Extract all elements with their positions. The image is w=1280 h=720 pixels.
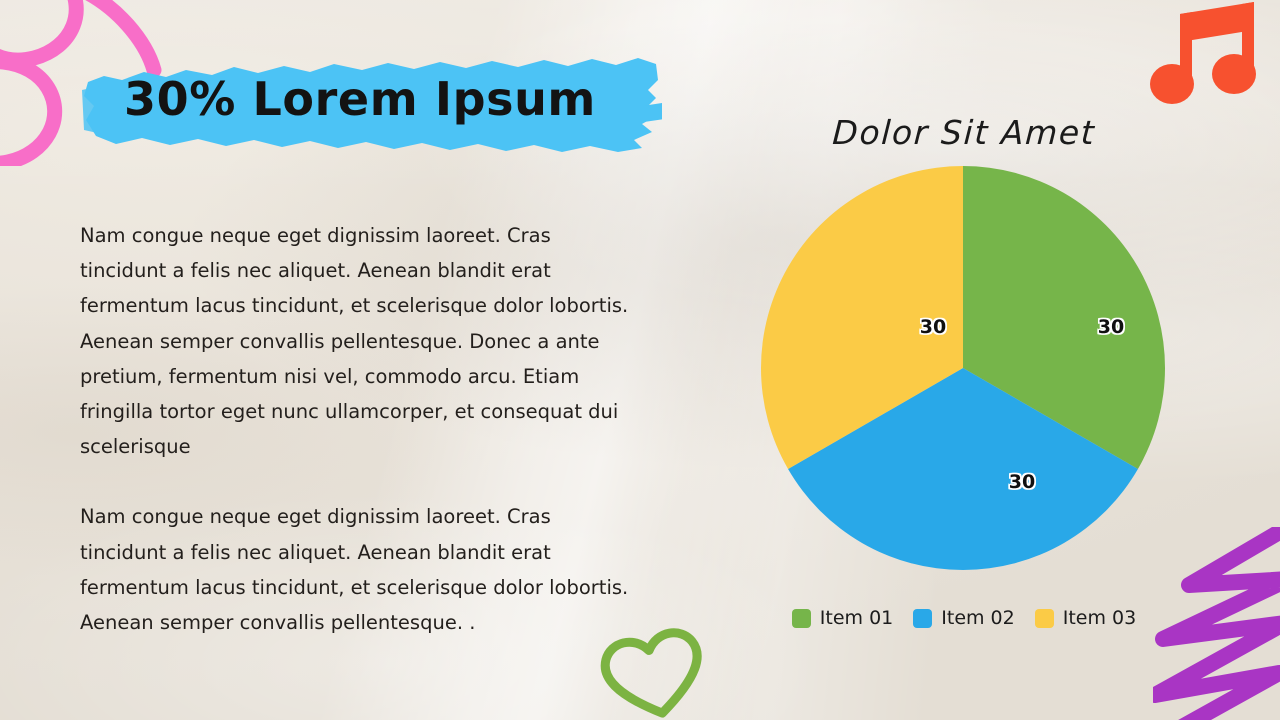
legend-label: Item 02 bbox=[941, 607, 1014, 629]
pie-label-item-02: 30 bbox=[1009, 471, 1035, 493]
legend-item-item-01[interactable]: Item 01 bbox=[792, 607, 893, 629]
title-block: 30% Lorem Ipsum bbox=[82, 46, 662, 168]
body-paragraph-2: Nam congue neque eget dignissim laoreet.… bbox=[80, 499, 636, 640]
legend-swatch-icon bbox=[913, 609, 932, 628]
slide-canvas: 30% Lorem Ipsum Nam congue neque eget di… bbox=[0, 0, 1280, 720]
legend-label: Item 01 bbox=[820, 607, 893, 629]
legend-label: Item 03 bbox=[1063, 607, 1136, 629]
pie-label-item-01: 30 bbox=[1098, 316, 1124, 338]
legend-swatch-icon bbox=[792, 609, 811, 628]
music-note-doodle-icon bbox=[1150, 0, 1270, 114]
body-copy: Nam congue neque eget dignissim laoreet.… bbox=[80, 218, 636, 640]
pie-label-item-03: 30 bbox=[920, 316, 946, 338]
chart-panel: Dolor Sit Amet 30 30 30 Item 01 Item 02 … bbox=[700, 105, 1260, 665]
page-title: 30% Lorem Ipsum bbox=[124, 72, 624, 126]
pie-chart bbox=[760, 165, 1166, 571]
legend-item-item-02[interactable]: Item 02 bbox=[913, 607, 1014, 629]
chart-legend: Item 01 Item 02 Item 03 bbox=[744, 607, 1184, 629]
body-paragraph-1: Nam congue neque eget dignissim laoreet.… bbox=[80, 218, 636, 464]
legend-item-item-03[interactable]: Item 03 bbox=[1035, 607, 1136, 629]
legend-swatch-icon bbox=[1035, 609, 1054, 628]
chart-title: Dolor Sit Amet bbox=[699, 113, 1229, 152]
